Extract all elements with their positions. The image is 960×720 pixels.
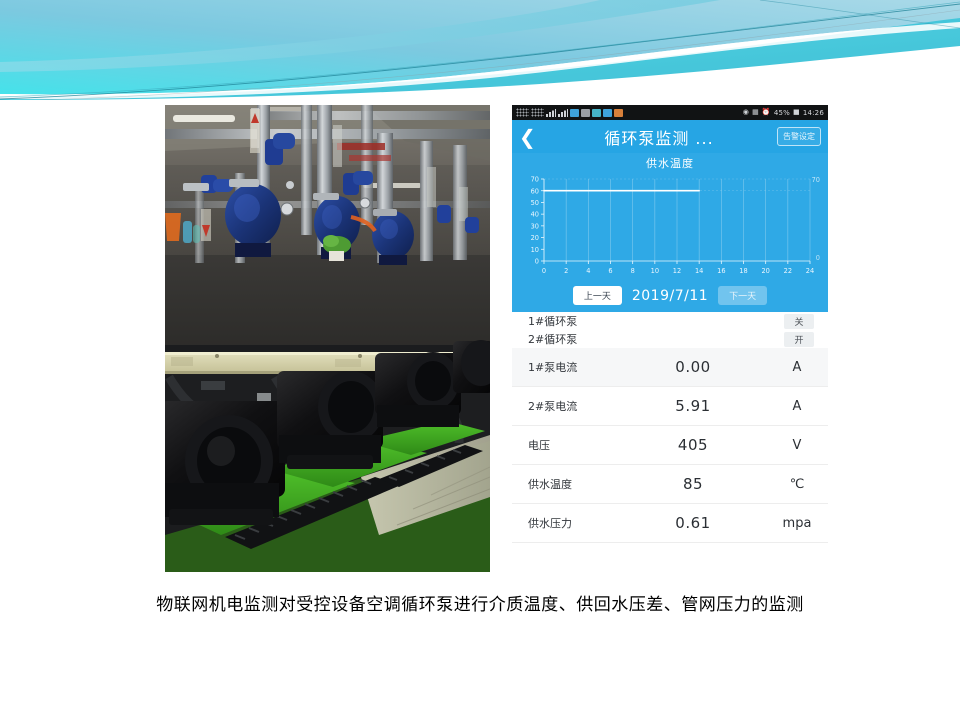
svg-text:0: 0 bbox=[816, 254, 820, 262]
link-notification-icon bbox=[581, 109, 590, 117]
pump-status-row[interactable]: 1#循环泵 关 bbox=[512, 312, 828, 330]
alarm-icon: ⏰ bbox=[762, 109, 771, 116]
svg-text:0: 0 bbox=[542, 267, 546, 275]
measurement-list: 1#泵电流 0.00 A 2#泵电流 5.91 A 电压 405 V 供水温度 … bbox=[512, 348, 828, 572]
measurement-value: 405 bbox=[620, 436, 766, 454]
svg-text:40: 40 bbox=[531, 211, 539, 219]
svg-text:6: 6 bbox=[608, 267, 612, 275]
current-date-label: 2019/7/11 bbox=[632, 288, 708, 304]
measurement-label: 供水压力 bbox=[512, 515, 620, 531]
svg-text:8: 8 bbox=[631, 267, 635, 275]
camera-notification-icon bbox=[592, 109, 601, 117]
svg-text:10: 10 bbox=[531, 246, 539, 254]
svg-text:20: 20 bbox=[761, 267, 769, 275]
svg-text:12: 12 bbox=[673, 267, 681, 275]
message-notification-icon bbox=[603, 109, 612, 117]
temperature-chart[interactable]: 010203040506070024681012141618202224700 bbox=[518, 173, 822, 281]
measurement-label: 电压 bbox=[512, 437, 620, 453]
svg-text:70: 70 bbox=[812, 176, 820, 184]
prev-day-button[interactable]: 上一天 bbox=[573, 286, 622, 305]
svg-text:20: 20 bbox=[531, 234, 539, 242]
battery-percent-label: 45% bbox=[774, 109, 790, 117]
pump-state-badge: 关 bbox=[784, 314, 814, 329]
signal-bars-icon bbox=[546, 109, 556, 117]
download-notification-icon bbox=[614, 109, 623, 117]
measurement-label: 供水温度 bbox=[512, 476, 620, 492]
measurement-unit: A bbox=[766, 399, 828, 414]
svg-text:2: 2 bbox=[564, 267, 568, 275]
measurement-unit: mpa bbox=[766, 516, 828, 531]
android-status-bar: ◉ ▦ ⏰ 45% ■ 14:26 bbox=[512, 105, 828, 120]
chart-title: 供水温度 bbox=[512, 155, 828, 173]
pump-status-row[interactable]: 2#循环泵 开 bbox=[512, 330, 828, 348]
svg-text:22: 22 bbox=[784, 267, 792, 275]
status-bar-right-icons: ◉ ▦ ⏰ 45% ■ 14:26 bbox=[743, 109, 824, 117]
measurement-value: 0.00 bbox=[620, 358, 766, 376]
svg-text:14: 14 bbox=[695, 267, 703, 275]
status-bar-left-icons bbox=[516, 108, 623, 117]
measurement-value: 5.91 bbox=[620, 397, 766, 415]
measurement-unit: A bbox=[766, 360, 828, 375]
app-notification-icon bbox=[570, 109, 579, 117]
measurement-row[interactable]: 供水温度 85 ℃ bbox=[512, 465, 828, 504]
phone-screenshot: ◉ ▦ ⏰ 45% ■ 14:26 ❮ 循环泵监测 ... 告警设定 供水温度 … bbox=[512, 105, 828, 572]
svg-text:30: 30 bbox=[531, 222, 539, 230]
measurement-label: 2#泵电流 bbox=[512, 398, 620, 414]
measurement-row[interactable]: 1#泵电流 0.00 A bbox=[512, 348, 828, 387]
measurement-unit: V bbox=[766, 438, 828, 453]
slide-canvas: ◉ ▦ ⏰ 45% ■ 14:26 ❮ 循环泵监测 ... 告警设定 供水温度 … bbox=[0, 0, 960, 720]
svg-text:4: 4 bbox=[586, 267, 590, 275]
alarm-settings-button[interactable]: 告警设定 bbox=[777, 127, 821, 146]
svg-text:60: 60 bbox=[531, 187, 539, 195]
svg-text:70: 70 bbox=[531, 176, 539, 184]
measurement-unit: ℃ bbox=[766, 477, 828, 492]
slide-caption: 物联网机电监测对受控设备空调循环泵进行介质温度、供回水压差、管网压力的监测 bbox=[0, 590, 960, 615]
pump-room-photo bbox=[165, 105, 490, 572]
page-title: 循环泵监测 ... bbox=[541, 125, 777, 149]
measurement-value: 0.61 bbox=[620, 514, 766, 532]
pump-name-label: 2#循环泵 bbox=[528, 331, 577, 347]
notification-dots-icon bbox=[516, 108, 529, 117]
back-chevron-icon[interactable]: ❮ bbox=[519, 127, 541, 147]
measurement-row[interactable]: 供水压力 0.61 mpa bbox=[512, 504, 828, 543]
measurement-row[interactable]: 电压 405 V bbox=[512, 426, 828, 465]
notification-dots-icon-2 bbox=[531, 108, 544, 117]
svg-text:50: 50 bbox=[531, 199, 539, 207]
signal-bars-icon-2 bbox=[558, 109, 568, 117]
measurement-value: 85 bbox=[620, 475, 766, 493]
battery-icon: ■ bbox=[793, 109, 800, 116]
svg-text:18: 18 bbox=[739, 267, 747, 275]
pump-state-badge: 开 bbox=[784, 332, 814, 347]
svg-text:24: 24 bbox=[806, 267, 814, 275]
status-bar-time: 14:26 bbox=[803, 109, 824, 117]
svg-text:16: 16 bbox=[717, 267, 725, 275]
svg-text:0: 0 bbox=[535, 258, 539, 266]
measurement-row[interactable]: 2#泵电流 5.91 A bbox=[512, 387, 828, 426]
chart-panel: 供水温度 01020304050607002468101214161820222… bbox=[512, 153, 828, 281]
pump-status-list: 1#循环泵 关 2#循环泵 开 bbox=[512, 312, 828, 348]
svg-text:10: 10 bbox=[651, 267, 659, 275]
list-empty-space bbox=[512, 543, 828, 572]
app-header-bar: ❮ 循环泵监测 ... 告警设定 bbox=[512, 120, 828, 153]
hd-icon: ▦ bbox=[752, 109, 759, 116]
pump-name-label: 1#循环泵 bbox=[528, 313, 577, 329]
next-day-button[interactable]: 下一天 bbox=[718, 286, 767, 305]
header-wave-decoration bbox=[0, 0, 960, 100]
date-navigation: 上一天 2019/7/11 下一天 bbox=[512, 281, 828, 312]
eye-icon: ◉ bbox=[743, 109, 749, 116]
measurement-label: 1#泵电流 bbox=[512, 359, 620, 375]
